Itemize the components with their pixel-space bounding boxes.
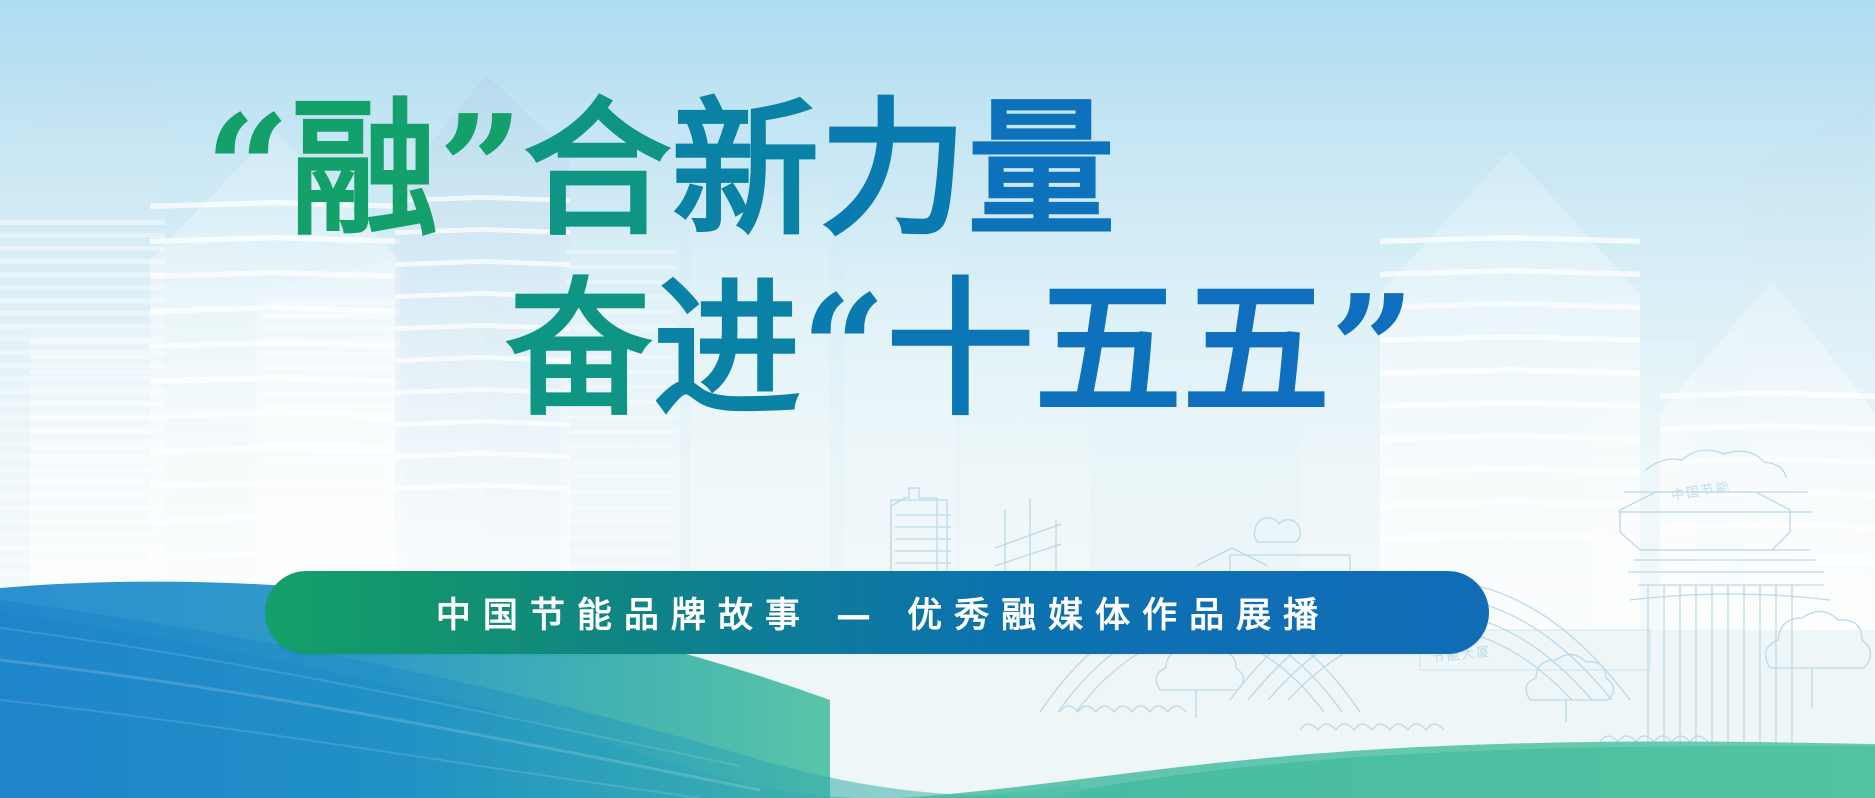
- poster-canvas: 中国节能 节能大厦: [0, 0, 1875, 798]
- title-char-jin: 进: [653, 266, 801, 434]
- title-char-shi: 十: [886, 266, 1034, 434]
- subtitle-ribbon-text: 中国节能品牌故事 — 优秀融媒体作品展播: [424, 587, 1330, 638]
- title-char-he: 合: [523, 86, 671, 254]
- title-open-quote-1: “: [205, 85, 290, 253]
- title-close-quote-2: ”: [1330, 265, 1415, 433]
- title-char-fen: 奋: [505, 266, 653, 434]
- title-char-rong: 融: [290, 86, 438, 254]
- title-line-1: “融”合新力量: [205, 85, 1115, 254]
- subtitle-ribbon: 中国节能品牌故事 — 优秀融媒体作品展播: [265, 571, 1489, 654]
- title-block: “融”合新力量 奋进“十五五”: [0, 0, 1875, 798]
- title-line-2: 奋进“十五五”: [505, 265, 1415, 434]
- title-close-quote-1: ”: [438, 85, 523, 253]
- title-char-wu-1: 五: [1034, 266, 1182, 434]
- title-char-li: 力: [819, 86, 967, 254]
- title-char-xin: 新: [671, 86, 819, 254]
- title-char-wu-2: 五: [1182, 266, 1330, 434]
- title-char-liang: 量: [967, 86, 1115, 254]
- title-open-quote-2: “: [801, 265, 886, 433]
